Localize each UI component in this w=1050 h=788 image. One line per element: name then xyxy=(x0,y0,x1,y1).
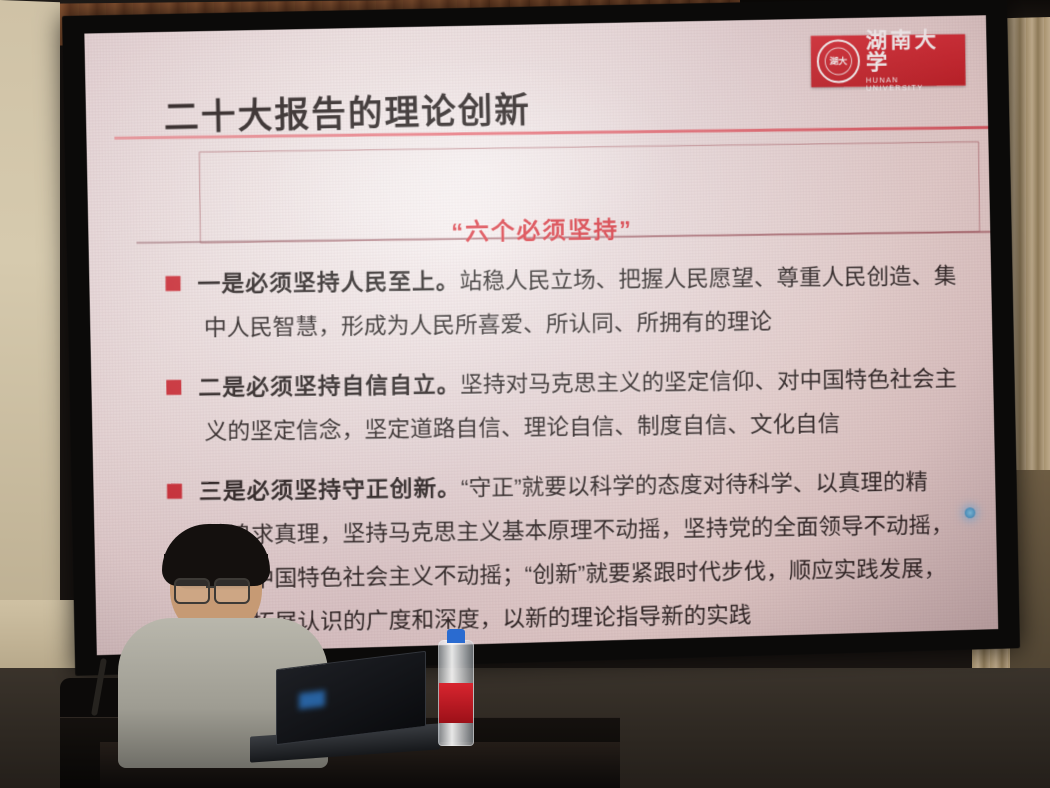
logo-name-en: HUNAN UNIVERSITY xyxy=(866,76,960,92)
bullet-body-text: “守正”就要以科学的态度对待科学、以真理的精 xyxy=(461,469,928,501)
logo-name-cn: 湖南大学 xyxy=(865,29,959,73)
logo-text-block: 湖南大学 HUNAN UNIVERSITY xyxy=(865,29,959,91)
bullet-line: 义的坚定信念，坚定道路自信、理论自信、制度自信、文化自信 xyxy=(159,400,987,454)
bullet-lead-text: 三是必须坚持守正创新。 xyxy=(199,475,461,504)
bullet-lead-text: 一是必须坚持人民至上。 xyxy=(197,268,459,297)
bullet-square-icon xyxy=(167,484,182,499)
university-seal-icon: 湖大 xyxy=(817,39,860,83)
hunan-university-logo: 湖大 湖南大学 HUNAN UNIVERSITY xyxy=(811,34,966,87)
university-seal-inner: 湖大 xyxy=(825,47,853,75)
bullet-line: 一是必须坚持人民至上。站稳人民立场、把握人民愿望、尊重人民创造、集 xyxy=(157,254,985,307)
eyeglasses-left-lens xyxy=(174,578,210,604)
eyeglasses-bridge xyxy=(206,586,214,588)
laptop-screen-glow xyxy=(299,690,325,709)
bullet-body-text: 义的坚定信念，坚定道路自信、理论自信、制度自信、文化自信 xyxy=(204,411,840,445)
water-bottle xyxy=(438,640,474,746)
bullet-square-icon xyxy=(166,276,181,291)
bullet-body-text: 站稳人民立场、把握人民愿望、尊重人民创造、集 xyxy=(459,263,956,294)
bullet-lead-text: 二是必须坚持自信自立。 xyxy=(198,372,460,401)
bottle-cap xyxy=(447,629,465,643)
lecture-hall-photo: 二十大报告的理论创新 湖大 湖南大学 HUNAN UNIVERSITY “六个必… xyxy=(0,0,1050,788)
bullet-item-1: 一是必须坚持人民至上。站稳人民立场、把握人民愿望、尊重人民创造、集 中人民智慧，… xyxy=(157,254,986,351)
eyeglasses-right-lens xyxy=(214,578,250,604)
bullet-body-text: 中人民智慧，形成为人民所喜爱、所认同、所拥有的理论 xyxy=(204,308,772,340)
bottle-label xyxy=(439,683,473,723)
left-wall xyxy=(0,0,60,642)
bullet-line: 中人民智慧，形成为人民所喜爱、所认同、所拥有的理论 xyxy=(158,297,986,350)
bullet-square-icon xyxy=(166,380,181,395)
bullet-item-2: 二是必须坚持自信自立。坚持对马克思主义的坚定信仰、对中国特色社会主 义的坚定信念… xyxy=(158,356,987,454)
bullet-body-text: 坚持对马克思主义的坚定信仰、对中国特色社会主 xyxy=(460,366,957,398)
